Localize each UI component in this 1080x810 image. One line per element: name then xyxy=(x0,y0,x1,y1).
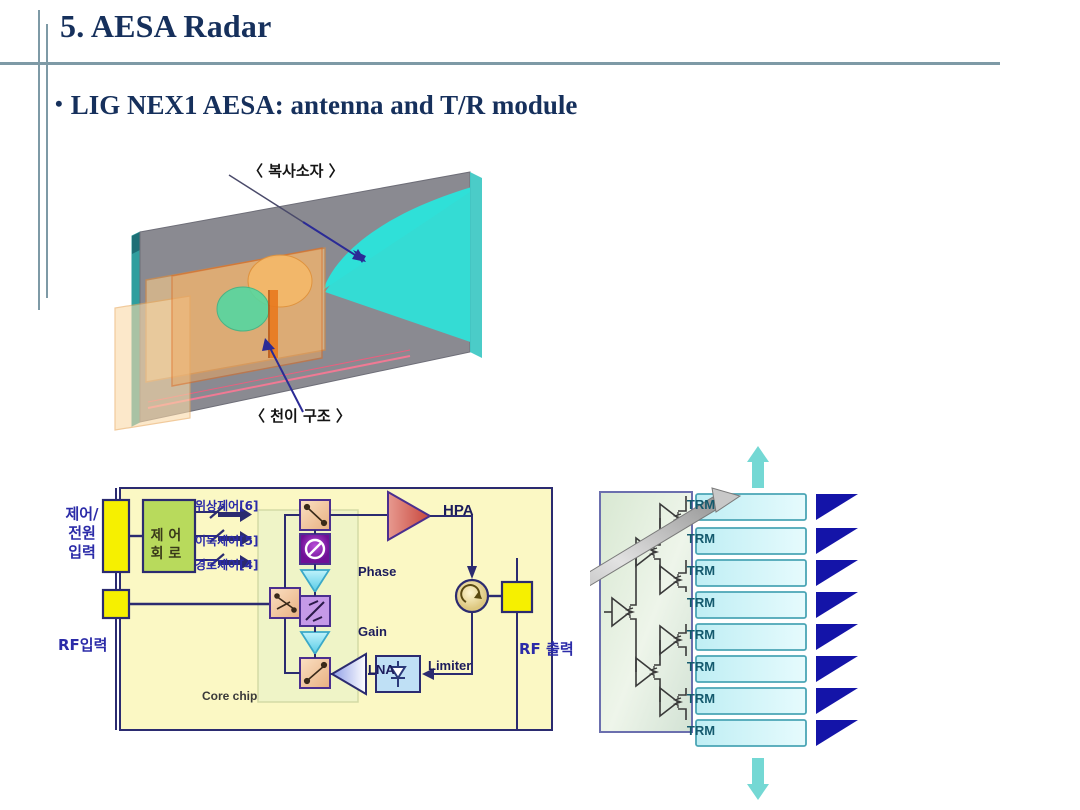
trm-label-1: TRM xyxy=(651,531,751,546)
bullet-icon: • xyxy=(55,91,63,116)
label-control-circuit-line-0: 제 어 xyxy=(146,527,186,545)
label-path-control: 경로제어[4] xyxy=(195,556,258,573)
trm-label-4: TRM xyxy=(651,627,751,642)
antenna-label-transition-structure: 〈 천이 구조 〉 xyxy=(250,405,351,426)
slide-root: 5. AESA Radar •LIG NEX1 AESA: antenna an… xyxy=(0,0,1080,810)
label-limiter: Limiter xyxy=(428,658,471,673)
label-control-circuit: 제 어 회 로 xyxy=(146,527,186,563)
label-lna: LNA xyxy=(368,662,395,677)
label-rf-output: RF 출력 xyxy=(519,638,574,659)
label-phase-control: 위상제어[6] xyxy=(195,497,258,514)
tr-module-block-diagram xyxy=(58,478,568,738)
slide-subtitle: •LIG NEX1 AESA: antenna and T/R module xyxy=(55,90,577,121)
label-gain: Gain xyxy=(358,624,387,639)
antenna-label-radiating-element: 〈 복사소자 〉 xyxy=(248,160,344,181)
trm-label-2: TRM xyxy=(651,563,751,578)
trm-label-6: TRM xyxy=(651,691,751,706)
header-vertical-rule-outer xyxy=(38,10,40,310)
trm-label-0: TRM xyxy=(651,497,751,512)
label-phase: Phase xyxy=(358,564,396,579)
antenna-array-figure xyxy=(590,440,900,810)
label-control-power-input-line-2: 입력 xyxy=(60,543,104,562)
label-core-chip: Core chip xyxy=(202,689,257,703)
label-rf-input: RF입력 xyxy=(58,634,107,655)
label-hpa: HPA xyxy=(443,502,474,519)
trm-label-7: TRM xyxy=(651,723,751,738)
label-control-power-input-line-0: 제어/ xyxy=(60,505,104,524)
label-control-power-input: 제어/ 전원 입력 xyxy=(60,505,104,562)
subtitle-text: LIG NEX1 AESA: antenna and T/R module xyxy=(71,90,578,120)
trm-label-5: TRM xyxy=(651,659,751,674)
header-vertical-rule-inner xyxy=(46,24,48,298)
label-control-circuit-line-1: 회 로 xyxy=(146,545,186,563)
trm-label-3: TRM xyxy=(651,595,751,610)
page-title: 5. AESA Radar xyxy=(60,8,272,45)
label-gain-control: 이득제어[5] xyxy=(195,532,258,549)
label-control-power-input-line-1: 전원 xyxy=(60,524,104,543)
header-horizontal-rule xyxy=(0,62,1000,65)
